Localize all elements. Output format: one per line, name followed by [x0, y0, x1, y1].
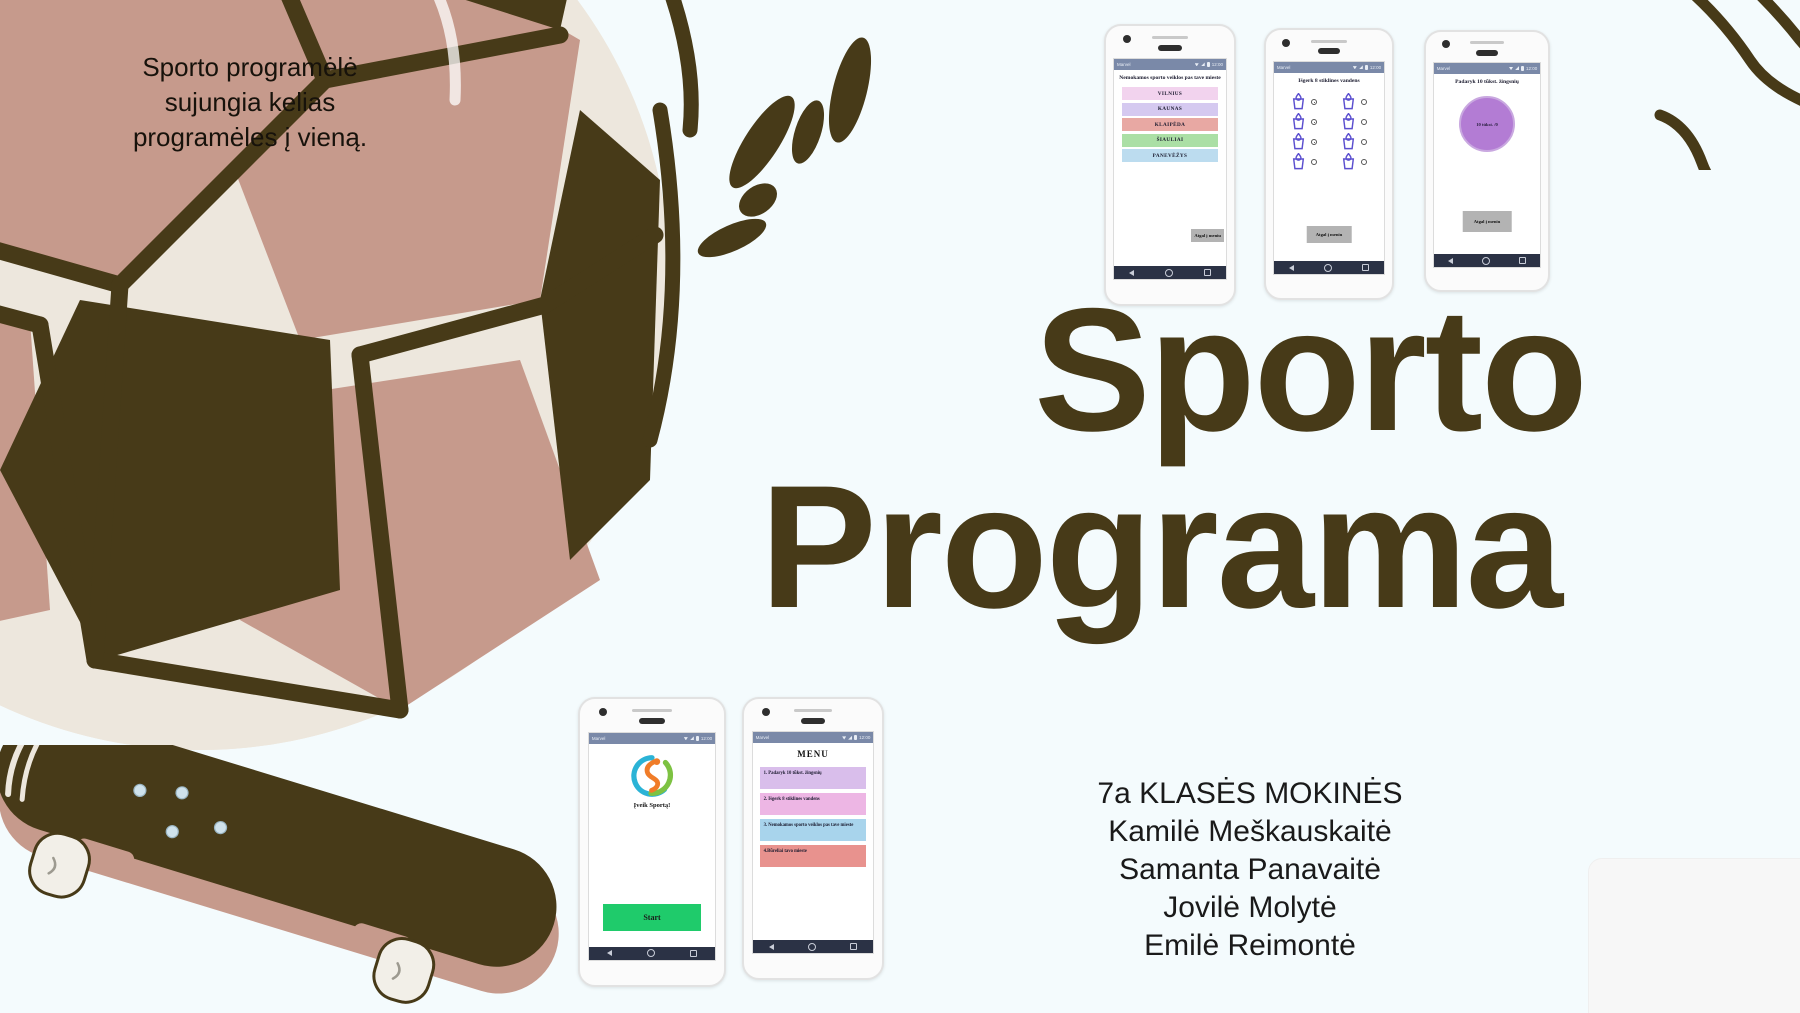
motion-dashes-illustration [690, 20, 920, 270]
android-nav-bar [589, 947, 715, 960]
earpiece-icon [801, 718, 826, 724]
speaker-grill-icon [1470, 41, 1504, 44]
water-glass-cell[interactable] [1280, 153, 1329, 171]
screen-title: Padaryk 10 tūkst. žingsnių [1434, 74, 1541, 89]
city-button-kaunas[interactable]: KAUNAS [1122, 103, 1218, 116]
nav-back-icon[interactable] [1129, 270, 1134, 276]
water-glass-cell[interactable] [1329, 113, 1378, 131]
water-glass-icon [1291, 153, 1306, 171]
nav-recents-icon[interactable] [690, 950, 697, 957]
water-glass-cell[interactable] [1329, 93, 1378, 111]
water-radio-6[interactable] [1361, 139, 1367, 145]
ball-caption: Sporto programėlė sujungia kelias progra… [95, 50, 405, 155]
water-glass-grid [1274, 87, 1384, 171]
water-glass-cell[interactable] [1280, 133, 1329, 151]
battery-icon [1207, 62, 1210, 67]
nav-recents-icon[interactable] [1204, 269, 1211, 276]
title-line-1: Sporto [760, 290, 1800, 451]
app-body: Padaryk 10 tūkst. žingsnių 10 tūkst. /0 … [1434, 74, 1541, 254]
water-radio-4[interactable] [1361, 119, 1367, 125]
status-bar-app-label: Marvel [1437, 66, 1451, 71]
signal-icon [1515, 66, 1519, 70]
menu-heading: MENU [753, 743, 874, 763]
speaker-grill-icon [794, 709, 833, 712]
signal-icon [1201, 62, 1205, 66]
menu-item-clubs[interactable]: 4.Būreliai tavo mieste [760, 845, 867, 867]
city-button-vilnius[interactable]: VILNIUS [1122, 87, 1218, 100]
swoosh-lines-illustration [1640, 0, 1800, 170]
earpiece-icon [639, 718, 665, 724]
android-nav-bar [753, 940, 874, 953]
authors-heading: 7a KLASĖS MOKINĖS [1000, 775, 1500, 813]
menu-item-water[interactable]: 2. Išgerk 8 stiklines vandens [760, 793, 867, 815]
status-bar-time: 12:00 [859, 735, 870, 740]
app-logo-icon [628, 752, 676, 800]
author-name: Jovilė Molytė [1000, 889, 1500, 927]
page-title: Sporto Programa [760, 290, 1800, 628]
status-bar-app-label: Marvel [592, 736, 606, 741]
android-nav-bar [1274, 261, 1384, 274]
nav-home-icon[interactable] [647, 949, 655, 957]
app-name-label: Įveik Sportą! [589, 802, 715, 809]
phone-screen: Marvel 12:00 MENU 1. Padaryk 10 tūkst. ž… [752, 731, 875, 954]
caption-line-1: Sporto programėlė [95, 50, 405, 85]
screen-title: Nemokamos sporto veiklos pas tave mieste [1114, 70, 1226, 85]
caption-line-3: programėles į vieną. [95, 120, 405, 155]
phone-mockup-steps: Marvel 12:00 Padaryk 10 tūkst. žingsnių … [1424, 30, 1550, 292]
status-bar-time: 12:00 [1370, 65, 1381, 70]
camera-dot-icon [762, 708, 770, 716]
nav-back-icon[interactable] [1448, 258, 1453, 264]
water-radio-1[interactable] [1311, 99, 1317, 105]
status-bar: Marvel 12:00 [589, 733, 715, 744]
app-body: Nemokamos sporto veiklos pas tave mieste… [1114, 70, 1226, 266]
phone-screen: Marvel 12:00 Nemokamos sporto veiklos pa… [1113, 58, 1227, 280]
water-radio-5[interactable] [1311, 139, 1317, 145]
phone-mockup-menu: Marvel 12:00 MENU 1. Padaryk 10 tūkst. ž… [742, 697, 884, 980]
water-radio-7[interactable] [1311, 159, 1317, 165]
camera-dot-icon [1282, 39, 1290, 47]
android-nav-bar [1434, 254, 1541, 267]
earpiece-icon [1158, 45, 1181, 51]
author-name: Samanta Panavaitė [1000, 851, 1500, 889]
status-bar-app-label: Marvel [1117, 62, 1131, 67]
skateboard-illustration [0, 745, 580, 1013]
nav-recents-icon[interactable] [850, 943, 857, 950]
nav-home-icon[interactable] [808, 943, 816, 951]
signal-icon [690, 736, 694, 740]
water-glass-icon [1341, 93, 1356, 111]
water-glass-icon [1291, 113, 1306, 131]
nav-home-icon[interactable] [1324, 264, 1332, 272]
menu-item-activities[interactable]: 3. Nemokamos sporto veiklos pas tave mie… [760, 819, 867, 841]
water-radio-2[interactable] [1361, 99, 1367, 105]
wifi-icon [684, 736, 688, 740]
signal-icon [1359, 65, 1363, 69]
water-glass-cell[interactable] [1280, 93, 1329, 111]
city-button-siauliai[interactable]: ŠIAULIAI [1122, 134, 1218, 147]
earpiece-icon [1476, 50, 1498, 56]
city-button-klaipeda[interactable]: KLAIPĖDA [1122, 118, 1218, 131]
phone-mockup-cities: Marvel 12:00 Nemokamos sporto veiklos pa… [1104, 24, 1236, 306]
nav-back-icon[interactable] [1289, 265, 1294, 271]
wifi-icon [1509, 66, 1513, 70]
phone-screen: Marvel 12:00 Išgerk 8 stiklines vandens [1273, 61, 1385, 275]
camera-dot-icon [1123, 35, 1131, 43]
battery-icon [1521, 66, 1524, 71]
water-glass-icon [1291, 133, 1306, 151]
water-radio-3[interactable] [1311, 119, 1317, 125]
water-glass-icon [1341, 153, 1356, 171]
water-glass-cell[interactable] [1329, 153, 1378, 171]
nav-recents-icon[interactable] [1519, 257, 1526, 264]
status-bar-app-label: Marvel [756, 735, 770, 740]
start-button[interactable]: Start [603, 904, 701, 931]
water-glass-icon [1291, 93, 1306, 111]
status-bar: Marvel 12:00 [1274, 62, 1384, 73]
camera-dot-icon [1442, 40, 1450, 48]
status-bar-time: 12:00 [1212, 62, 1223, 67]
speaker-grill-icon [1311, 40, 1346, 43]
step-progress-ring: 10 tūkst. /0 [1459, 96, 1515, 152]
water-glass-cell[interactable] [1280, 113, 1329, 131]
phone-screen: Marvel 12:00 Padaryk 10 tūkst. žingsnių … [1433, 62, 1542, 268]
phone-mockup-splash: Marvel 12:00 Įveik Sportą! Start [578, 697, 726, 987]
speaker-grill-icon [1152, 36, 1188, 39]
authors-block: 7a KLASĖS MOKINĖS Kamilė Meškauskaitė Sa… [1000, 775, 1500, 965]
step-counter-label: 10 tūkst. /0 [1476, 122, 1498, 127]
android-nav-bar [1114, 266, 1226, 279]
back-to-menu-button[interactable]: Atgal į meniu [1463, 211, 1512, 232]
city-button-panevezys[interactable]: PANEVĖŽYS [1122, 149, 1218, 162]
battery-icon [854, 735, 857, 740]
back-to-menu-button[interactable]: Atgal į meniu [1307, 226, 1352, 243]
wifi-icon [1195, 62, 1199, 66]
wifi-icon [1353, 65, 1357, 69]
nav-home-icon[interactable] [1482, 257, 1490, 265]
menu-item-steps[interactable]: 1. Padaryk 10 tūkst. žingsnių [760, 767, 867, 789]
status-bar: Marvel 12:00 [1434, 63, 1541, 74]
phone-screen: Marvel 12:00 Įveik Sportą! Start [588, 732, 716, 961]
status-bar: Marvel 12:00 [1114, 59, 1226, 70]
water-glass-icon [1341, 113, 1356, 131]
water-glass-icon [1341, 133, 1356, 151]
speaker-grill-icon [632, 709, 672, 712]
title-line-2: Programa [760, 467, 1800, 628]
caption-line-2: sujungia kelias [95, 85, 405, 120]
nav-recents-icon[interactable] [1362, 264, 1369, 271]
water-radio-8[interactable] [1361, 159, 1367, 165]
app-body: Išgerk 8 stiklines vandens [1274, 73, 1384, 261]
screen-title: Išgerk 8 stiklines vandens [1274, 73, 1384, 88]
earpiece-icon [1318, 48, 1341, 54]
app-body: Įveik Sportą! Start [589, 744, 715, 947]
status-bar-app-label: Marvel [1277, 65, 1291, 70]
nav-home-icon[interactable] [1165, 269, 1173, 277]
author-name: Emilė Reimontė [1000, 927, 1500, 965]
partial-phone-frame [1588, 858, 1800, 1013]
nav-back-icon[interactable] [769, 944, 774, 950]
status-bar-time: 12:00 [1526, 66, 1537, 71]
app-body: MENU 1. Padaryk 10 tūkst. žingsnių 2. Iš… [753, 743, 874, 940]
status-bar: Marvel 12:00 [753, 732, 874, 743]
author-name: Kamilė Meškauskaitė [1000, 813, 1500, 851]
camera-dot-icon [599, 708, 607, 716]
presentation-slide: Sporto programėlė sujungia kelias progra… [0, 0, 1800, 1013]
back-to-menu-button[interactable]: Atgal į meniu [1191, 229, 1224, 242]
nav-back-icon[interactable] [607, 950, 612, 956]
water-glass-cell[interactable] [1329, 133, 1378, 151]
battery-icon [696, 736, 699, 741]
wifi-icon [842, 736, 846, 740]
status-bar-time: 12:00 [701, 736, 712, 741]
battery-icon [1365, 65, 1368, 70]
phone-mockup-water: Marvel 12:00 Išgerk 8 stiklines vandens [1264, 28, 1394, 300]
signal-icon [848, 736, 852, 740]
